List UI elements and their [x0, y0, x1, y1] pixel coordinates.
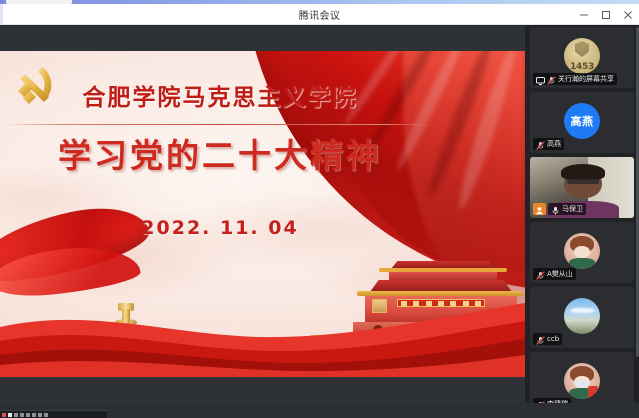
title-bar[interactable]: 腾讯会议 — [0, 4, 639, 25]
participant-name: ccb — [547, 336, 559, 343]
close-icon — [623, 10, 633, 20]
meeting-body: 合肥学院马克思主义学院 学习党的二十大精神 2022. 11. 04 1453 — [0, 25, 639, 403]
bottom-window-stub — [0, 403, 639, 418]
title-bar-left-edge — [0, 4, 3, 25]
participant-badges: 高燕 — [533, 138, 564, 150]
participant-tile[interactable]: 高燕 高燕 — [530, 92, 634, 153]
participant-tile[interactable]: 1453 关行瀚的屏幕共享 — [530, 27, 634, 88]
mic-muted-icon — [547, 70, 556, 89]
stage-letterbox-bottom — [0, 377, 525, 403]
presentation-slide: 合肥学院马克思主义学院 学习党的二十大精神 2022. 11. 04 — [0, 51, 525, 377]
screen-share-icon — [536, 70, 545, 89]
minimize-button[interactable] — [573, 4, 595, 25]
avatar: 高燕 — [564, 103, 600, 139]
participant-tile[interactable]: 李建瑞 — [530, 352, 634, 403]
mic-muted-icon — [536, 265, 545, 284]
slide-title-line2: 学习党的二十大精神 — [0, 137, 440, 175]
screen-share-badge: 关行瀚的屏幕共享 — [533, 73, 617, 85]
avatar — [564, 298, 600, 334]
tencent-meeting-window: 腾讯会议 — [0, 0, 639, 418]
participant-tile[interactable]: 马保卫 — [530, 157, 634, 218]
mic-muted-icon — [536, 330, 545, 349]
mic-muted-icon — [536, 395, 545, 404]
avatar — [564, 363, 600, 399]
window-controls — [573, 4, 639, 25]
participant-tile[interactable]: ccb — [530, 287, 634, 348]
avatar — [564, 233, 600, 269]
slide-title-divider — [5, 124, 435, 125]
participant-tile[interactable]: A樊从山 — [530, 222, 634, 283]
host-person-icon — [535, 200, 544, 219]
mic-muted-icon — [536, 135, 545, 154]
minimize-icon — [579, 10, 589, 20]
slide-title-line1: 合肥学院马克思主义学院 — [0, 85, 440, 113]
participant-name-chip: 马保卫 — [548, 203, 586, 215]
slide-date: 2022. 11. 04 — [0, 217, 440, 239]
participant-name: 关行瀚的屏幕共享 — [558, 76, 614, 83]
maximize-icon — [601, 10, 611, 20]
participant-badges: 关行瀚的屏幕共享 — [533, 73, 617, 85]
participant-name-chip: ccb — [533, 333, 562, 345]
avatar-label: 1453 — [570, 62, 594, 72]
mic-on-icon — [551, 200, 560, 219]
close-button[interactable] — [617, 4, 639, 25]
participant-name: A樊从山 — [547, 271, 573, 278]
window-title: 腾讯会议 — [299, 7, 341, 22]
party-emblem-icon — [8, 61, 64, 117]
stage-letterbox-top — [0, 25, 525, 51]
maximize-button[interactable] — [595, 4, 617, 25]
participant-name-chip: 高燕 — [533, 138, 564, 150]
seal-emblem-icon — [575, 41, 589, 57]
avatar: 1453 — [564, 38, 600, 74]
red-ribbon-waves-decoration — [0, 281, 525, 377]
slide-title-block: 合肥学院马克思主义学院 学习党的二十大精神 — [0, 85, 440, 175]
participant-name-chip: A樊从山 — [533, 268, 576, 280]
participant-name: 高燕 — [547, 141, 561, 148]
shared-screen-stage[interactable]: 合肥学院马克思主义学院 学习党的二十大精神 2022. 11. 04 — [0, 25, 525, 403]
participant-badges: 马保卫 — [533, 203, 586, 215]
background-window-titlebar[interactable] — [0, 410, 107, 418]
participant-sidebar[interactable]: 1453 关行瀚的屏幕共享 高燕 — [525, 25, 639, 403]
participant-badges: A樊从山 — [533, 268, 576, 280]
participant-name: 马保卫 — [562, 206, 583, 213]
participant-badges: ccb — [533, 333, 562, 345]
host-badge — [533, 203, 546, 215]
